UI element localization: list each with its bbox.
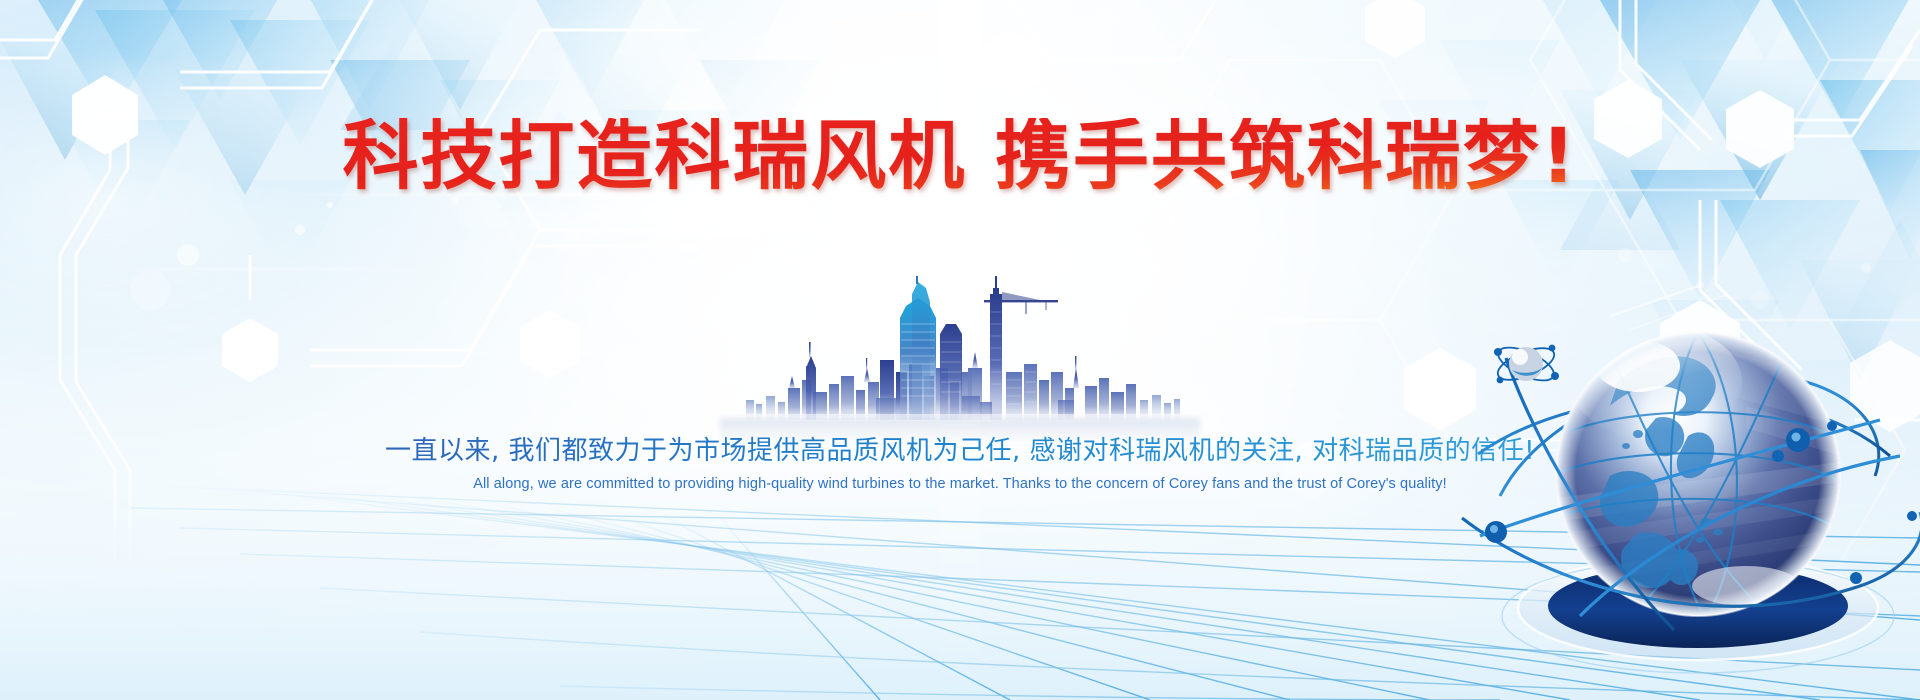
satellite-atom-icon <box>1494 341 1559 387</box>
headline-title: 科技打造科瑞风机 携手共筑科瑞梦! <box>0 118 1920 194</box>
city-skyline-graphic <box>740 272 1180 420</box>
banner-root: 科技打造科瑞风机 携手共筑科瑞梦! <box>0 0 1920 700</box>
globe-graphic <box>1460 286 1920 700</box>
